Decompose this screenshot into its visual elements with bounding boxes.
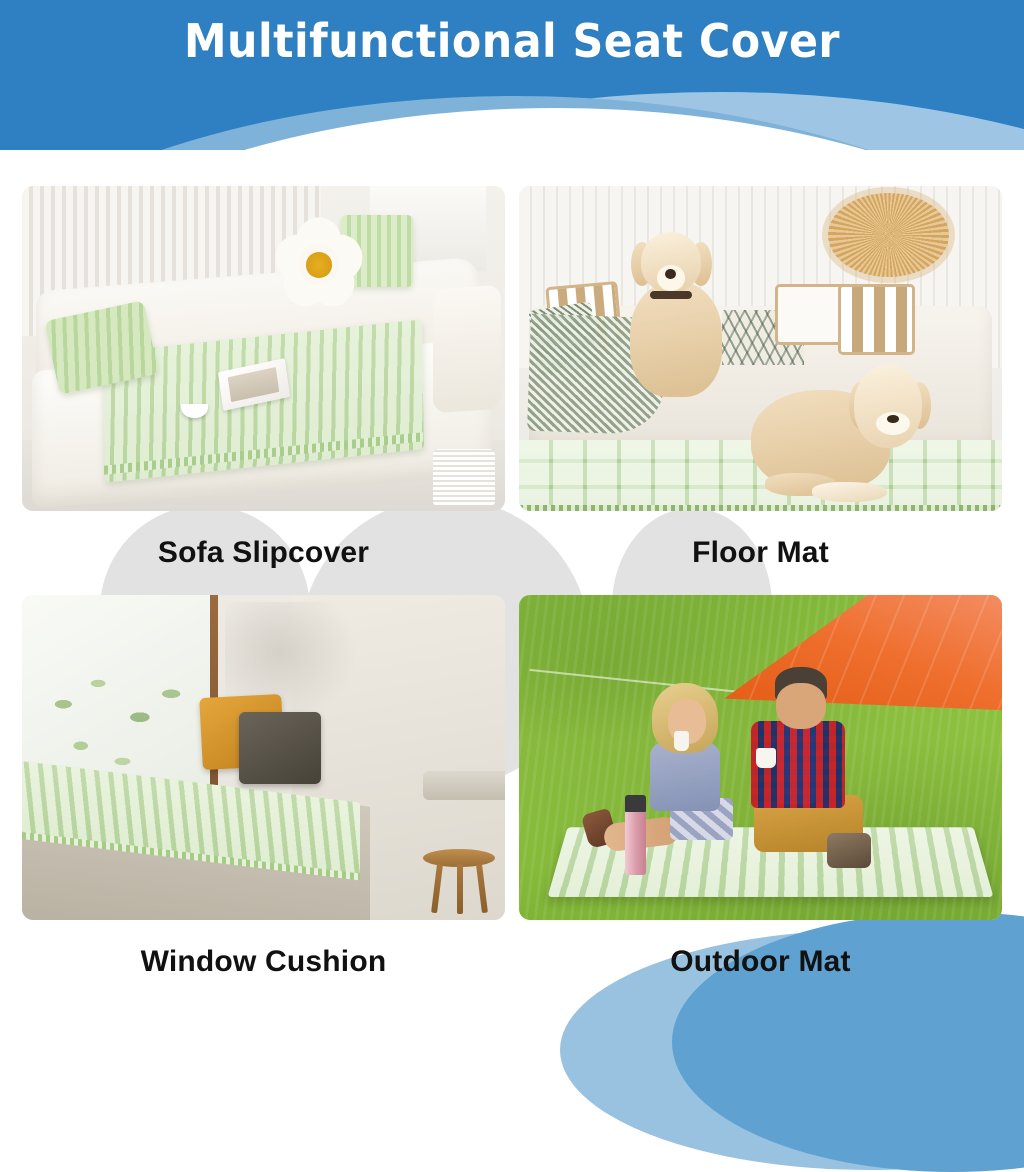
page-header: Multifunctional Seat Cover <box>0 0 1024 150</box>
use-case-grid: Sofa Slipcover <box>0 150 1024 1024</box>
striped-pillow-right <box>838 284 915 356</box>
photo-window-cushion <box>22 595 505 920</box>
page-title: Multifunctional Seat Cover <box>36 14 988 68</box>
white-pillow <box>775 284 847 346</box>
photo-floor-mat <box>519 186 1002 511</box>
panel-window-cushion[interactable]: Window Cushion <box>22 595 505 1004</box>
panel-outdoor-mat[interactable]: Outdoor Mat <box>519 595 1002 1004</box>
daisy-flower-pillow <box>278 222 360 307</box>
dog-lying <box>751 365 930 508</box>
wooden-stool <box>423 849 495 914</box>
label-window-cushion: Window Cushion <box>22 920 505 1004</box>
dog-sitting <box>616 232 732 401</box>
man-with-mug <box>746 667 876 875</box>
panel-sofa-slipcover[interactable]: Sofa Slipcover <box>22 186 505 595</box>
woman-with-mug <box>645 683 742 868</box>
label-floor-mat: Floor Mat <box>519 511 1002 595</box>
daisy-center <box>306 252 332 277</box>
stone-side-table <box>423 771 505 800</box>
label-sofa-slipcover: Sofa Slipcover <box>22 511 505 595</box>
scene-window-cushion <box>22 595 505 920</box>
dark-gray-pillow <box>239 712 321 784</box>
pink-thermos <box>625 810 645 875</box>
rattan-wall-decor <box>828 193 949 278</box>
photo-sofa-slipcover <box>22 186 505 511</box>
woven-basket <box>433 449 496 504</box>
scene-sofa-slipcover <box>22 186 505 511</box>
scene-floor-mat <box>519 186 1002 511</box>
photo-outdoor-mat <box>519 595 1002 920</box>
scene-outdoor-mat <box>519 595 1002 920</box>
panel-floor-mat[interactable]: Floor Mat <box>519 186 1002 595</box>
label-outdoor-mat: Outdoor Mat <box>519 920 1002 1004</box>
sofa-right-arm <box>433 284 501 412</box>
